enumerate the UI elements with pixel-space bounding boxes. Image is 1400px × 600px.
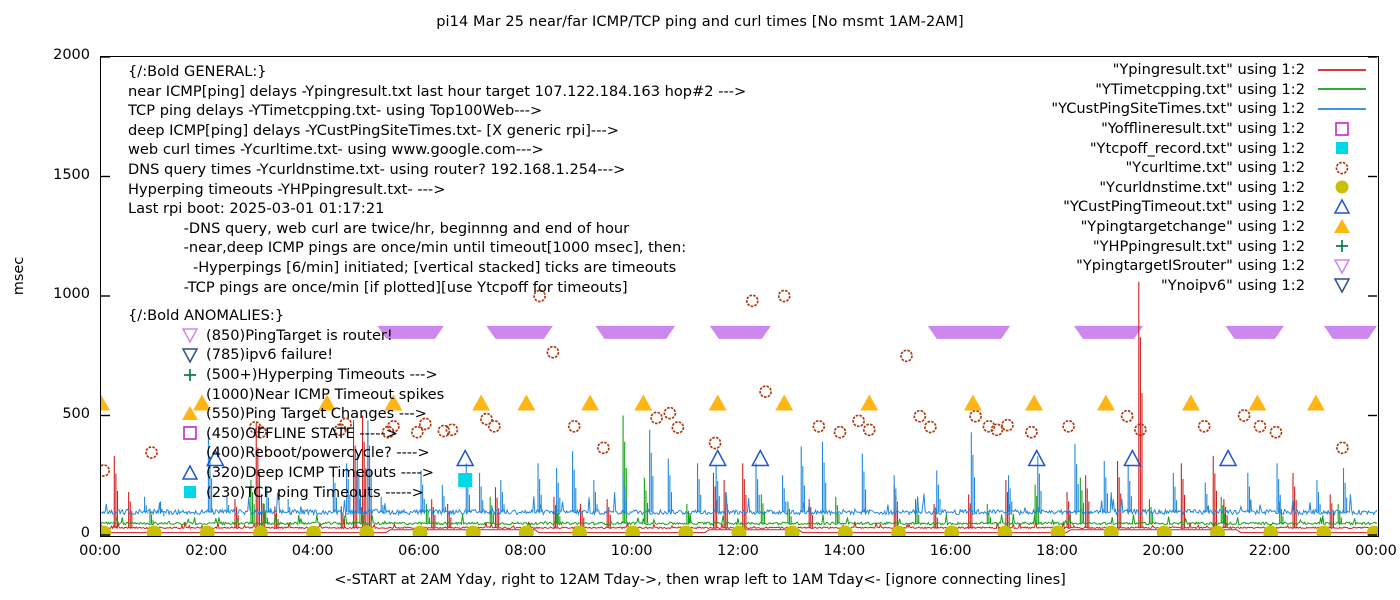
anomaly-row-4: (550)Ping Target Changes ---> (128, 404, 444, 424)
general-line-0: near ICMP[ping] delays -Ypingresult.txt … (128, 82, 746, 102)
marker-open-triangle-up-4-2 (710, 451, 726, 466)
marker-open-triangle-up-4-3 (752, 451, 768, 466)
marker-filled-triangle-up-5-8 (709, 395, 727, 411)
general-line-3: web curl times -Ycurltime.txt- using www… (128, 140, 746, 160)
legend-key-plus-icon (1305, 237, 1379, 255)
legend-label-11: "Ynoipv6" using 1:2 (1161, 277, 1305, 294)
series-spike-2-38 (1173, 473, 1176, 512)
anomaly-label-7: (320)Deep ICMP Timeouts ----> (206, 464, 434, 481)
general-line-6: Last rpi boot: 2025-03-01 01:17:21 (128, 199, 746, 219)
general-note-0: -DNS query, web curl are twice/hr, begin… (128, 219, 746, 239)
series-spike-2-32 (971, 432, 974, 512)
general-note-3: -TCP pings are once/min [if plotted][use… (128, 278, 746, 298)
series-spike-2-25 (756, 463, 759, 512)
marker-open-circle-2-20 (672, 422, 683, 433)
legend-item-7[interactable]: "YCustPingTimeout.txt" using 1:2 (985, 197, 1379, 217)
marker-open-circle-2-11 (446, 424, 457, 435)
legend-item-0[interactable]: "Ypingresult.txt" using 1:2 (985, 60, 1379, 80)
marker-open-circle-2-29 (901, 350, 912, 361)
anomalies-heading: {/:Bold ANOMALIES:} (128, 306, 444, 326)
series-spike-2-24 (716, 466, 719, 513)
y-tick-2000: 2000 (20, 47, 90, 63)
legend-key-open-circle-icon (1305, 159, 1379, 177)
marker-open-circle-2-32 (970, 411, 981, 422)
y-tick-0: 0 (20, 525, 90, 541)
anomaly-label-2: (500+)Hyperping Timeouts ---> (206, 366, 438, 383)
marker-open-circle-2-28 (864, 424, 875, 435)
legend-item-9[interactable]: "YHPpingresult.txt" using 1:2 (985, 236, 1379, 256)
marker-filled-triangle-up-5-14 (1182, 395, 1200, 411)
marker-open-circle-2-25 (813, 421, 824, 432)
legend-label-8: "Ypingtargetchange" using 1:2 (1081, 218, 1305, 235)
legend-item-2[interactable]: "YCustPingSiteTimes.txt" using 1:2 (985, 99, 1379, 119)
anomaly-row-7: (320)Deep ICMP Timeouts ----> (128, 463, 444, 483)
x-tick-5: 10:00 (597, 543, 667, 559)
legend-label-9: "YHPpingresult.txt" using 1:2 (1093, 238, 1305, 255)
x-tick-6: 12:00 (703, 543, 773, 559)
marker-filled-triangle-up-5-4 (472, 395, 490, 411)
marker-open-circle-2-36 (1026, 427, 1037, 438)
marker-open-triangle-up-4-5 (1124, 451, 1140, 466)
page-title: pi14 Mar 25 near/far ICMP/TCP ping and c… (0, 14, 1400, 30)
series-spike-2-28 (822, 442, 825, 513)
router-band-2 (595, 326, 675, 339)
series-spike-0-25 (1086, 475, 1089, 528)
anomaly-marker-open-triangle-up-icon (128, 464, 206, 482)
anomaly-row-3: (1000)Near ICMP Timeout spikes (128, 384, 444, 404)
series-trace-1 (101, 514, 1377, 525)
legend-item-8[interactable]: "Ypingtargetchange" using 1:2 (985, 217, 1379, 237)
general-lines: near ICMP[ping] delays -Ypingresult.txt … (128, 82, 746, 219)
anomaly-row-5: (450)OFFLINE STATE -----> (128, 424, 444, 444)
series-spike-0-28 (1181, 463, 1184, 528)
anomaly-label-0: (850)PingTarget is router! (206, 327, 393, 344)
series-spike-2-15 (501, 480, 504, 512)
anomaly-label-1: (785)ipv6 failure! (206, 346, 333, 363)
legend-key-open-triangle-up-icon (1305, 198, 1379, 216)
x-tick-1: 02:00 (171, 543, 241, 559)
legend-label-10: "YpingtargetISrouter" using 1:2 (1076, 257, 1305, 274)
x-tick-0: 00:00 (65, 543, 135, 559)
anomaly-row-8: (230)TCP ping Timeouts -----> (128, 482, 444, 502)
series-spike-1-12 (836, 497, 839, 524)
marker-open-circle-2-26 (835, 427, 846, 438)
legend-item-11[interactable]: "Ynoipv6" using 1:2 (985, 276, 1379, 296)
anomaly-marker-filled-triangle-up-icon (128, 405, 206, 423)
marker-open-triangle-up-4-1 (457, 451, 473, 466)
anomalies-rows: (850)PingTarget is router!(785)ipv6 fail… (128, 326, 444, 502)
legend-item-4[interactable]: "Ytcpoff_record.txt" using 1:2 (985, 138, 1379, 158)
marker-open-circle-2-22 (747, 295, 758, 306)
y-tick-1000: 1000 (20, 286, 90, 302)
series-spike-1-8 (644, 478, 647, 524)
marker-open-circle-2-34 (991, 424, 1002, 435)
x-tick-4: 08:00 (490, 543, 560, 559)
marker-filled-triangle-up-5-6 (581, 395, 599, 411)
anomaly-label-4: (550)Ping Target Changes ---> (206, 405, 427, 422)
marker-filled-triangle-up-5-10 (860, 395, 878, 411)
marker-open-circle-2-35 (1002, 420, 1013, 431)
series-spike-2-21 (650, 430, 653, 512)
series-spike-2-23 (698, 463, 701, 512)
router-band-3 (710, 326, 771, 339)
x-tick-2: 04:00 (278, 543, 348, 559)
legend: "Ypingresult.txt" using 1:2"YTimetcpping… (985, 60, 1379, 295)
legend-item-3[interactable]: "Yofflineresult.txt" using 1:2 (985, 119, 1379, 139)
marker-open-circle-2-43 (1271, 427, 1282, 438)
marker-filled-circle-3-19 (1104, 526, 1119, 537)
marker-open-triangle-up-4-6 (1220, 451, 1236, 466)
series-spike-2-35 (1075, 444, 1078, 512)
legend-key-filled-triangle-up-icon (1305, 218, 1379, 236)
series-spike-2-37 (1128, 466, 1131, 513)
y-tick-1500: 1500 (20, 167, 90, 183)
x-tick-8: 16:00 (916, 543, 986, 559)
series-spike-2-42 (1317, 480, 1320, 512)
series-spike-0-14 (581, 504, 584, 528)
marker-filled-triangle-up-5-13 (1097, 395, 1115, 411)
marker-open-circle-2-24 (779, 291, 790, 302)
legend-item-5[interactable]: "Ycurltime.txt" using 1:2 (985, 158, 1379, 178)
legend-item-10[interactable]: "YpingtargetISrouter" using 1:2 (985, 256, 1379, 276)
legend-key-line-icon (1305, 100, 1379, 118)
marker-filled-square-1-0 (458, 473, 472, 487)
legend-label-6: "Ycurldnstime.txt" using 1:2 (1099, 179, 1305, 196)
marker-filled-triangle-up-5-9 (775, 395, 793, 411)
series-spike-2-18 (573, 451, 576, 512)
marker-open-circle-2-21 (710, 438, 721, 449)
marker-open-triangle-up-4-4 (1029, 451, 1045, 466)
anomaly-label-3: (1000)Near ICMP Timeout spikes (206, 386, 444, 403)
marker-filled-triangle-up-5-7 (634, 395, 652, 411)
x-tick-12: 00:00 (1341, 543, 1400, 559)
marker-filled-triangle-up-5-12 (1025, 395, 1043, 411)
series-spike-0-12 (495, 487, 498, 528)
legend-label-5: "Ycurltime.txt" using 1:2 (1125, 159, 1305, 176)
marker-open-circle-2-44 (1337, 442, 1348, 453)
router-band-6 (1225, 326, 1283, 339)
series-spike-2-33 (1009, 475, 1012, 512)
marker-open-circle-2-18 (651, 412, 662, 423)
marker-open-circle-2-19 (664, 408, 675, 419)
series-spike-0-26 (1118, 461, 1121, 528)
marker-open-circle-2-15 (547, 347, 558, 358)
anomaly-label-8: (230)TCP ping Timeouts -----> (206, 484, 424, 501)
anomaly-marker-open-triangle-down-icon (128, 326, 206, 344)
marker-open-circle-2-38 (1122, 411, 1133, 422)
marker-open-circle-2-30 (914, 411, 925, 422)
series-spike-2-26 (783, 475, 786, 512)
anomalies-annotation-block: {/:Bold ANOMALIES:} (850)PingTarget is r… (128, 306, 444, 502)
series-spike-2-40 (1248, 473, 1251, 512)
marker-open-circle-2-13 (489, 421, 500, 432)
series-spike-2-34 (1038, 456, 1041, 512)
general-line-1: TCP ping delays -YTimetcpping.txt- using… (128, 101, 746, 121)
legend-key-filled-square-icon (1305, 139, 1379, 157)
marker-filled-circle-3-14 (838, 526, 853, 537)
router-band-5 (1074, 326, 1143, 339)
legend-item-1[interactable]: "YTimetcpping.txt" using 1:2 (985, 80, 1379, 100)
series-spike-2-36 (1104, 461, 1107, 512)
legend-label-0: "Ypingresult.txt" using 1:2 (1113, 61, 1305, 78)
marker-filled-triangle-up-5-16 (1307, 395, 1325, 411)
legend-label-3: "Yofflineresult.txt" using 1:2 (1101, 120, 1305, 137)
marker-filled-circle-3-22 (1263, 526, 1278, 537)
series-spike-2-22 (668, 459, 671, 513)
router-band-7 (1324, 326, 1377, 339)
series-spike-2-43 (1344, 468, 1347, 512)
router-band-4 (928, 326, 1010, 339)
marker-open-circle-2-31 (925, 422, 936, 433)
legend-key-open-square-icon (1305, 120, 1379, 138)
legend-key-filled-circle-icon (1305, 178, 1379, 196)
marker-filled-triangle-up-5-0 (100, 395, 110, 411)
general-note-1: -near,deep ICMP pings are once/min until… (128, 238, 746, 258)
anomaly-marker-filled-square-icon (128, 483, 206, 501)
legend-key-line-icon (1305, 80, 1379, 98)
anomaly-row-6: (400)Reboot/powercycle? ----> (128, 443, 444, 463)
legend-label-2: "YCustPingSiteTimes.txt" using 1:2 (1051, 100, 1305, 117)
series-spike-0-29 (1213, 456, 1216, 528)
marker-filled-triangle-up-5-5 (517, 395, 535, 411)
legend-key-line-icon (1305, 61, 1379, 79)
series-spike-2-29 (862, 454, 865, 513)
series-spike-2-14 (480, 473, 483, 512)
marker-open-circle-2-17 (598, 442, 609, 453)
router-band-1 (486, 326, 552, 339)
marker-filled-circle-3-10 (625, 526, 640, 537)
x-tick-9: 18:00 (1022, 543, 1092, 559)
x-tick-10: 20:00 (1128, 543, 1198, 559)
series-spike-0-18 (743, 463, 746, 528)
series-spike-2-17 (557, 468, 560, 512)
anomaly-row-2: (500+)Hyperping Timeouts ---> (128, 365, 444, 385)
general-notes: -DNS query, web curl are twice/hr, begin… (128, 219, 746, 297)
legend-label-7: "YCustPingTimeout.txt" using 1:2 (1063, 198, 1305, 215)
anomaly-label-6: (400)Reboot/powercycle? ----> (206, 444, 430, 461)
legend-key-open-triangle-down-icon (1305, 257, 1379, 275)
series-spike-0-0 (114, 456, 117, 528)
general-heading: {/:Bold GENERAL:} (128, 62, 746, 82)
anomaly-label-5: (450)OFFLINE STATE -----> (206, 425, 398, 442)
anomaly-row-1: (785)ipv6 failure! (128, 345, 444, 365)
anomaly-marker-open-triangle-down-icon (128, 346, 206, 364)
x-tick-3: 06:00 (384, 543, 454, 559)
x-axis-label: <-START at 2AM Yday, right to 12AM Tday-… (0, 572, 1400, 588)
series-spike-0-27 (1139, 282, 1142, 528)
anomaly-marker-plus-icon (128, 366, 206, 384)
anomaly-marker-open-square-icon (128, 424, 206, 442)
legend-item-6[interactable]: "Ycurldnstime.txt" using 1:2 (985, 178, 1379, 198)
general-line-4: DNS query times -Ycurldnstime.txt- using… (128, 160, 746, 180)
general-note-2: -Hyperpings [6/min] initiated; [vertical… (128, 258, 746, 278)
marker-open-circle-2-37 (1063, 421, 1074, 432)
series-spike-2-41 (1277, 463, 1280, 512)
marker-open-circle-2-40 (1199, 421, 1210, 432)
series-spike-2-30 (894, 475, 897, 512)
anomaly-row-0: (850)PingTarget is router! (128, 326, 444, 346)
marker-open-circle-2-23 (760, 386, 771, 397)
marker-open-circle-2-16 (569, 421, 580, 432)
series-spike-2-16 (538, 463, 541, 512)
legend-label-4: "Ytcpoff_record.txt" using 1:2 (1090, 140, 1305, 157)
series-spike-2-31 (937, 470, 940, 512)
marker-filled-circle-3-2 (200, 526, 215, 537)
series-spike-2-39 (1205, 482, 1208, 512)
marker-filled-triangle-up-5-11 (964, 395, 982, 411)
marker-filled-triangle-up-5-15 (1248, 395, 1266, 411)
general-line-2: deep ICMP[ping] delays -YCustPingSiteTim… (128, 121, 746, 141)
marker-open-circle-2-41 (1239, 410, 1250, 421)
series-spike-2-27 (801, 447, 804, 513)
series-spike-1-4 (426, 504, 429, 524)
series-spike-1-16 (1080, 478, 1083, 524)
x-tick-7: 14:00 (809, 543, 879, 559)
marker-open-circle-2-0 (100, 465, 109, 476)
legend-key-open-triangle-down-icon (1305, 276, 1379, 294)
general-line-5: Hyperping timeouts -YHPpingresult.txt- -… (128, 180, 746, 200)
legend-label-1: "YTimetcpping.txt" using 1:2 (1095, 81, 1305, 98)
series-spike-1-10 (761, 494, 764, 523)
series-spike-2-1 (161, 502, 164, 517)
series-spike-0-11 (448, 504, 451, 528)
x-tick-11: 22:00 (1235, 543, 1305, 559)
series-spike-2-19 (594, 480, 597, 512)
gnuplot-chart-page: pi14 Mar 25 near/far ICMP/TCP ping and c… (0, 0, 1400, 600)
y-tick-500: 500 (20, 406, 90, 422)
general-annotation-block: {/:Bold GENERAL:} near ICMP[ping] delays… (128, 62, 746, 297)
marker-open-circle-2-42 (1255, 421, 1266, 432)
series-spike-2-13 (466, 463, 469, 512)
marker-open-circle-2-27 (853, 415, 864, 426)
